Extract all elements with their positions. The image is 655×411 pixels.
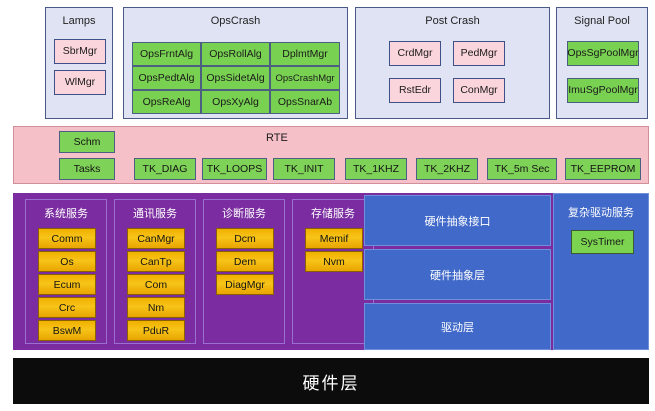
- module-pdur[interactable]: PduR: [127, 320, 185, 341]
- panel-title-opscrash: OpsCrash: [124, 14, 347, 28]
- chip-opsfrntalg[interactable]: OpsFrntAlg: [132, 42, 201, 66]
- panel-title-signal-pool: Signal Pool: [557, 14, 647, 28]
- layer-hardware-abstraction-interface[interactable]: 硬件抽象接口: [364, 195, 551, 246]
- panel-lamps: Lamps SbrMgr WlMgr: [45, 7, 113, 119]
- chip-opsrollalg[interactable]: OpsRollAlg: [201, 42, 270, 66]
- rte-label: RTE: [266, 132, 288, 144]
- rte-band: RTE Schm Tasks TK_DIAG TK_LOOPS TK_INIT …: [13, 126, 649, 184]
- layer-hardware-abstraction[interactable]: 硬件抽象层: [364, 249, 551, 300]
- chip-wlmgr[interactable]: WlMgr: [54, 70, 106, 95]
- bsw-column-title-diagnostic-services: 诊断服务: [204, 208, 284, 221]
- module-os[interactable]: Os: [38, 251, 96, 272]
- module-crc[interactable]: Crc: [38, 297, 96, 318]
- chip-opsxyalg[interactable]: OpsXyAlg: [201, 90, 270, 114]
- panel-opscrash: OpsCrash OpsFrntAlg OpsRollAlg DplmtMgr …: [123, 7, 348, 119]
- rte-chip-tk-eeprom[interactable]: TK_EEPROM: [565, 158, 641, 180]
- panel-title-post-crash: Post Crash: [356, 14, 549, 28]
- chip-dplmtmgr[interactable]: DplmtMgr: [270, 42, 340, 66]
- rte-chip-tasks[interactable]: Tasks: [59, 158, 115, 180]
- layer-driver[interactable]: 驱动层: [364, 303, 551, 350]
- module-memif[interactable]: Memif: [305, 228, 363, 249]
- chip-opssgpoolmgr[interactable]: OpsSgPoolMgr: [567, 41, 639, 66]
- hardware-layer-bar: 硬件层: [13, 358, 649, 404]
- architecture-diagram: Lamps SbrMgr WlMgr OpsCrash OpsFrntAlg O…: [0, 0, 655, 411]
- module-dem[interactable]: Dem: [216, 251, 274, 272]
- module-bswm[interactable]: BswM: [38, 320, 96, 341]
- chip-rstedr[interactable]: RstEdr: [389, 78, 441, 103]
- chip-opssidetalg[interactable]: OpsSidetAlg: [201, 66, 270, 90]
- rte-chip-tk-diag[interactable]: TK_DIAG: [134, 158, 196, 180]
- module-cantp[interactable]: CanTp: [127, 251, 185, 272]
- chip-sbrmgr[interactable]: SbrMgr: [54, 39, 106, 64]
- bsw-column-title-memory-services: 存储服务: [293, 208, 373, 221]
- chip-opspedtalg[interactable]: OpsPedtAlg: [132, 66, 201, 90]
- chip-conmgr[interactable]: ConMgr: [453, 78, 505, 103]
- bsw-column-title-communication-services: 通讯服务: [115, 208, 195, 221]
- chip-opscrashmgr[interactable]: OpsCrashMgr: [270, 66, 340, 90]
- chip-opsrealg[interactable]: OpsReAlg: [132, 90, 201, 114]
- chip-crdmgr[interactable]: CrdMgr: [389, 41, 441, 66]
- chip-imusgpoolmgr[interactable]: ImuSgPoolMgr: [567, 78, 639, 103]
- rte-chip-tk-2khz[interactable]: TK_2KHZ: [416, 158, 478, 180]
- bsw-column-communication-services: 通讯服务 CanMgr CanTp Com Nm PduR: [114, 199, 196, 344]
- module-diagmgr[interactable]: DiagMgr: [216, 274, 274, 295]
- module-canmgr[interactable]: CanMgr: [127, 228, 185, 249]
- chip-opssnarab[interactable]: OpsSnarAb: [270, 90, 340, 114]
- module-dcm[interactable]: Dcm: [216, 228, 274, 249]
- bsw-column-system-services: 系统服务 Comm Os Ecum Crc BswM: [25, 199, 107, 344]
- module-systimer[interactable]: SysTimer: [571, 230, 634, 254]
- panel-complex-driver-services: 复杂驱动服务 SysTimer: [553, 193, 649, 350]
- module-com[interactable]: Com: [127, 274, 185, 295]
- panel-signal-pool: Signal Pool OpsSgPoolMgr ImuSgPoolMgr: [556, 7, 648, 119]
- module-nm[interactable]: Nm: [127, 297, 185, 318]
- module-comm[interactable]: Comm: [38, 228, 96, 249]
- rte-chip-schm[interactable]: Schm: [59, 131, 115, 153]
- bsw-column-title-system-services: 系统服务: [26, 208, 106, 221]
- rte-chip-tk-5msec[interactable]: TK_5m Sec: [487, 158, 557, 180]
- panel-title-lamps: Lamps: [46, 14, 112, 28]
- rte-chip-tk-1khz[interactable]: TK_1KHZ: [345, 158, 407, 180]
- rte-chip-tk-init[interactable]: TK_INIT: [273, 158, 335, 180]
- rte-chip-tk-loops[interactable]: TK_LOOPS: [202, 158, 267, 180]
- bsw-column-memory-services: 存储服务 Memif Nvm: [292, 199, 374, 344]
- module-ecum[interactable]: Ecum: [38, 274, 96, 295]
- bsw-column-diagnostic-services: 诊断服务 Dcm Dem DiagMgr: [203, 199, 285, 344]
- panel-title-complex-driver-services: 复杂驱动服务: [554, 204, 648, 220]
- panel-post-crash: Post Crash CrdMgr PedMgr RstEdr ConMgr: [355, 7, 550, 119]
- module-nvm[interactable]: Nvm: [305, 251, 363, 272]
- chip-pedmgr[interactable]: PedMgr: [453, 41, 505, 66]
